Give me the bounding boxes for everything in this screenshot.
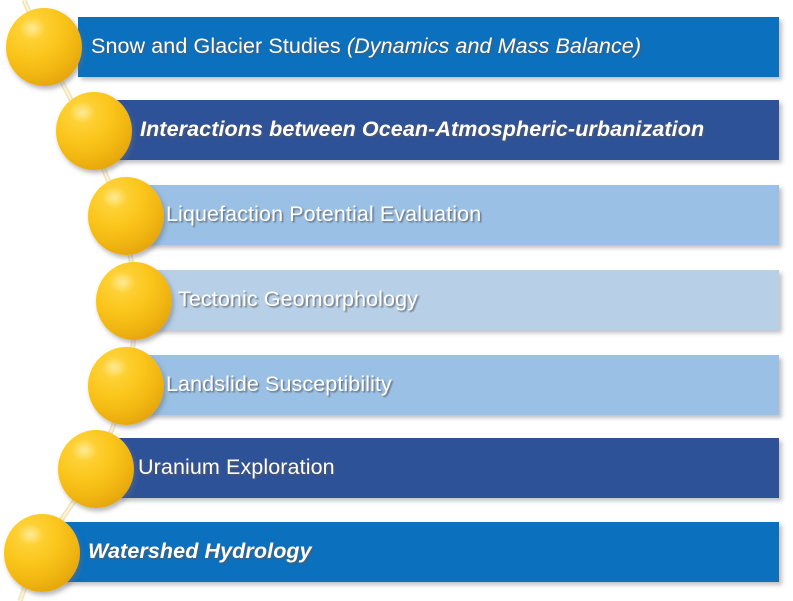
bar-label-2: Interactions between Ocean-Atmospheric-u…	[140, 119, 704, 141]
bar-label-6: Uranium Exploration	[138, 457, 335, 479]
node-ball-3[interactable]	[88, 177, 164, 255]
bar-label-2-emphasis: Interactions between Ocean-Atmospheric-u…	[140, 117, 704, 141]
bar-watershed-hydrology[interactable]: Watershed Hydrology	[62, 522, 779, 582]
bar-label-4: Tectonic Geomorphology	[178, 289, 418, 311]
node-ball-7[interactable]	[4, 514, 80, 592]
node-ball-5[interactable]	[88, 347, 164, 425]
bar-label-1: Snow and Glacier Studies (Dynamics and M…	[91, 36, 641, 58]
bar-label-5: Landslide Susceptibility	[166, 374, 392, 396]
bar-snow-and-glacier-studies[interactable]: Snow and Glacier Studies (Dynamics and M…	[78, 17, 779, 77]
bar-label-1-emphasis: (Dynamics and Mass Balance)	[347, 34, 641, 58]
node-ball-6[interactable]	[58, 430, 134, 508]
bar-label-3: Liquefaction Potential Evaluation	[166, 204, 481, 226]
diagram-canvas: Snow and Glacier Studies (Dynamics and M…	[0, 0, 793, 601]
bar-liquefaction-potential-evaluation[interactable]: Liquefaction Potential Evaluation	[144, 185, 779, 245]
bar-label-7: Watershed Hydrology	[88, 541, 312, 563]
node-ball-4[interactable]	[96, 262, 172, 340]
bar-label-1-plain: Snow and Glacier Studies	[91, 34, 347, 58]
bar-interactions-ocean-atmospheric-urbanization[interactable]: Interactions between Ocean-Atmospheric-u…	[116, 100, 779, 160]
bar-tectonic-geomorphology[interactable]: Tectonic Geomorphology	[152, 270, 779, 330]
bar-landslide-susceptibility[interactable]: Landslide Susceptibility	[143, 355, 779, 415]
node-ball-2[interactable]	[56, 92, 132, 170]
bar-uranium-exploration[interactable]: Uranium Exploration	[118, 438, 779, 498]
node-ball-1[interactable]	[6, 8, 82, 86]
